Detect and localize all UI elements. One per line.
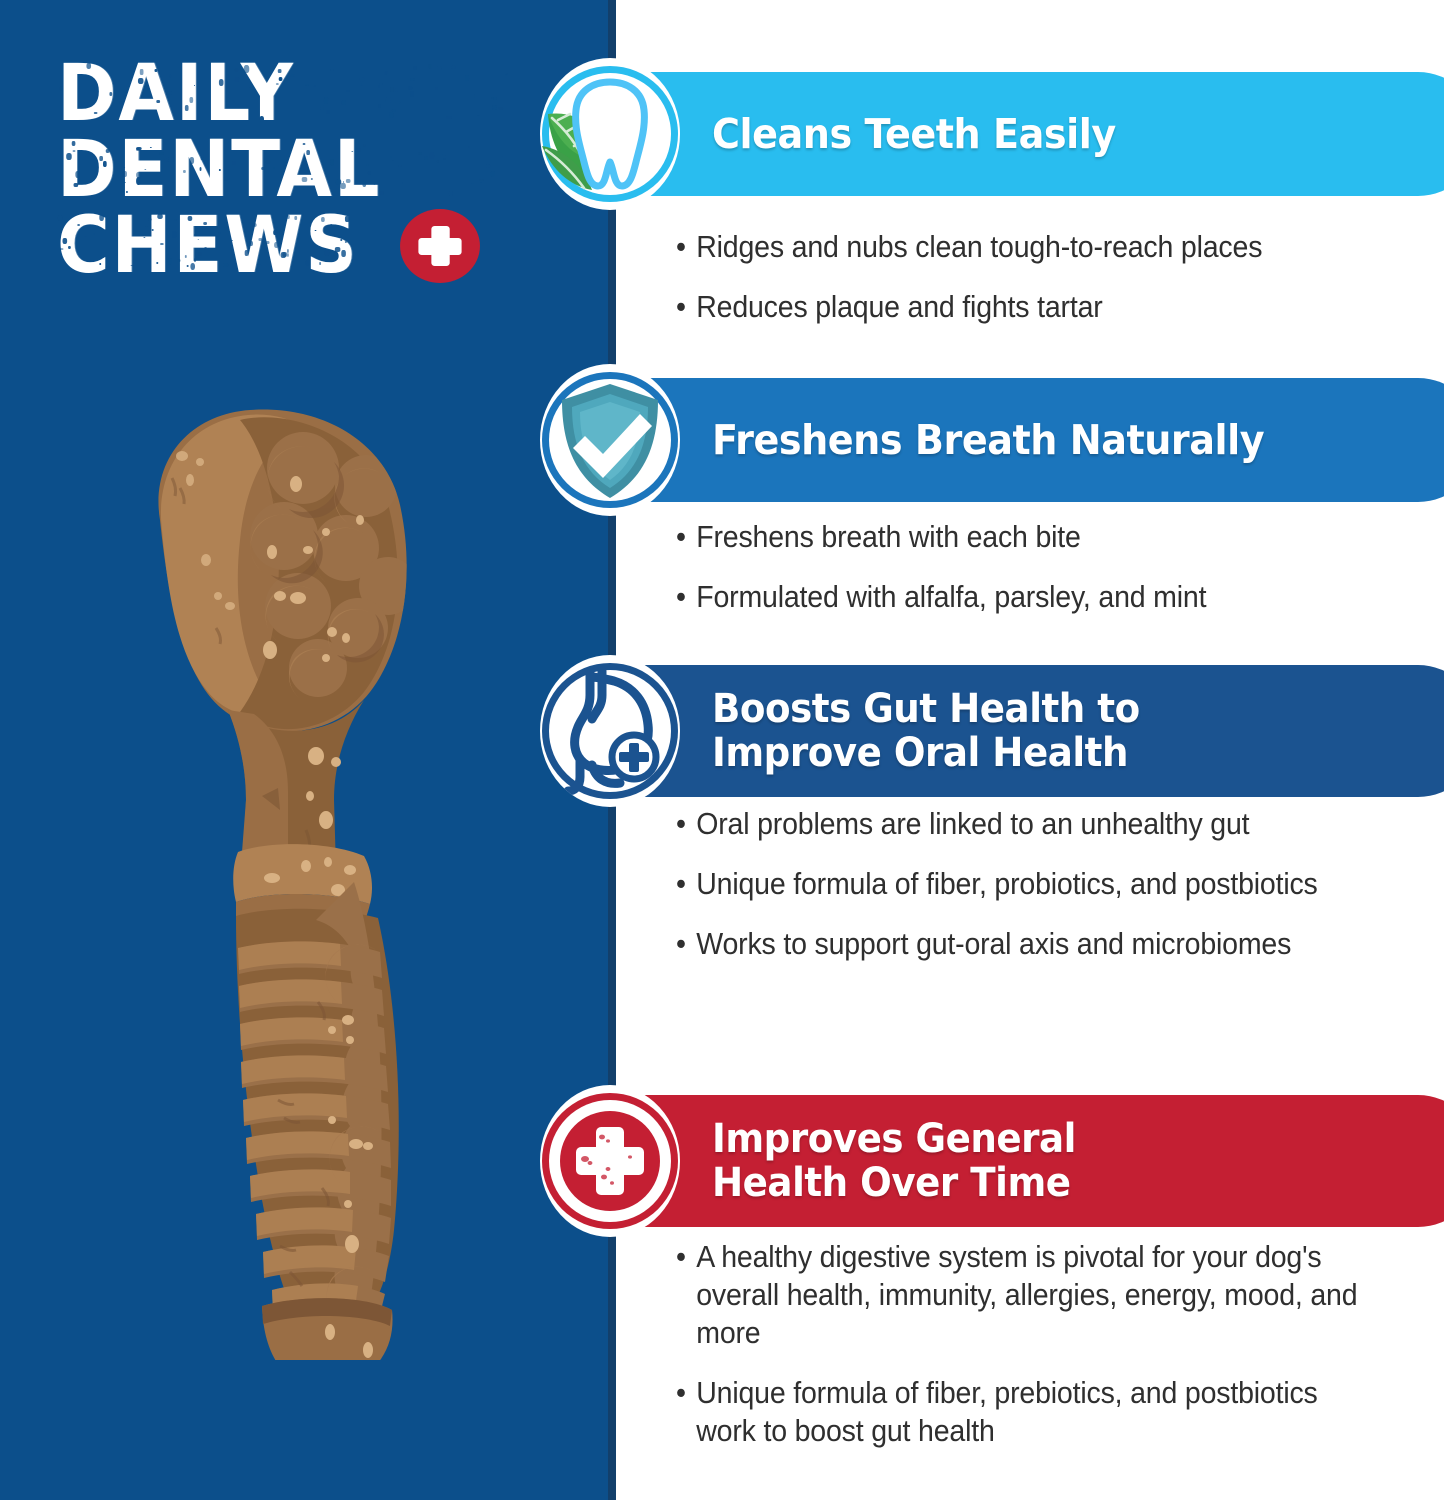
feature-1-bullets: • Ridges and nubs clean tough-to-reach p… [676, 228, 1436, 348]
feature-2-title: Freshens Breath Naturally [712, 418, 1264, 463]
bullet-item: • Reduces plaque and fights tartar [676, 288, 1375, 326]
feature-1-pill[interactable]: Cleans Teeth Easily [560, 72, 1444, 196]
bullet-item: • Unique formula of fiber, probiotics, a… [676, 865, 1375, 903]
bullet-text: Works to support gut-oral axis and micro… [696, 925, 1375, 963]
feature-1-title: Cleans Teeth Easily [712, 112, 1116, 157]
bullet-marker: • [676, 1238, 696, 1352]
bullet-item: • A healthy digestive system is pivotal … [676, 1238, 1375, 1352]
feature-4-title: Improves General Health Over Time [712, 1117, 1076, 1205]
shield-check-icon [540, 364, 680, 516]
bullet-text: Ridges and nubs clean tough-to-reach pla… [696, 228, 1375, 266]
feature-4-bullets: • A healthy digestive system is pivotal … [676, 1238, 1436, 1472]
bullet-item: • Ridges and nubs clean tough-to-reach p… [676, 228, 1375, 266]
bullet-item: • Freshens breath with each bite [676, 518, 1375, 556]
bullet-marker: • [676, 578, 696, 616]
bullet-marker: • [676, 228, 696, 266]
bullet-marker: • [676, 865, 696, 903]
feature-2-bullets: • Freshens breath with each bite • Formu… [676, 518, 1436, 638]
bullet-text: A healthy digestive system is pivotal fo… [696, 1238, 1375, 1352]
stomach-plus-icon [540, 655, 680, 807]
bullet-text: Oral problems are linked to an unhealthy… [696, 805, 1375, 843]
feature-3-bullets: • Oral problems are linked to an unhealt… [676, 805, 1436, 985]
bullet-text: Formulated with alfalfa, parsley, and mi… [696, 578, 1375, 616]
bullet-marker: • [676, 288, 696, 326]
bullet-marker: • [676, 805, 696, 843]
bullet-marker: • [676, 1374, 696, 1450]
infographic-canvas: DAILY DENTAL CHEWS [0, 0, 1444, 1500]
bullet-item: • Unique formula of fiber, prebiotics, a… [676, 1374, 1375, 1450]
bullet-item: • Formulated with alfalfa, parsley, and … [676, 578, 1375, 616]
feature-4-pill[interactable]: Improves General Health Over Time [560, 1095, 1444, 1227]
bullet-item: • Works to support gut-oral axis and mic… [676, 925, 1375, 963]
tooth-mint-icon [540, 58, 680, 210]
bullet-text: Reduces plaque and fights tartar [696, 288, 1375, 326]
feature-3-title: Boosts Gut Health to Improve Oral Health [712, 687, 1140, 775]
bullet-marker: • [676, 925, 696, 963]
bullet-text: Freshens breath with each bite [696, 518, 1375, 556]
bullet-text: Unique formula of fiber, probiotics, and… [696, 865, 1375, 903]
features-list: Cleans Teeth Easily [0, 0, 1444, 1500]
medical-cross-circle-icon [540, 1085, 680, 1237]
bullet-marker: • [676, 518, 696, 556]
feature-3-pill[interactable]: Boosts Gut Health to Improve Oral Health [560, 665, 1444, 797]
feature-2-pill[interactable]: Freshens Breath Naturally [560, 378, 1444, 502]
bullet-text: Unique formula of fiber, prebiotics, and… [696, 1374, 1375, 1450]
bullet-item: • Oral problems are linked to an unhealt… [676, 805, 1375, 843]
